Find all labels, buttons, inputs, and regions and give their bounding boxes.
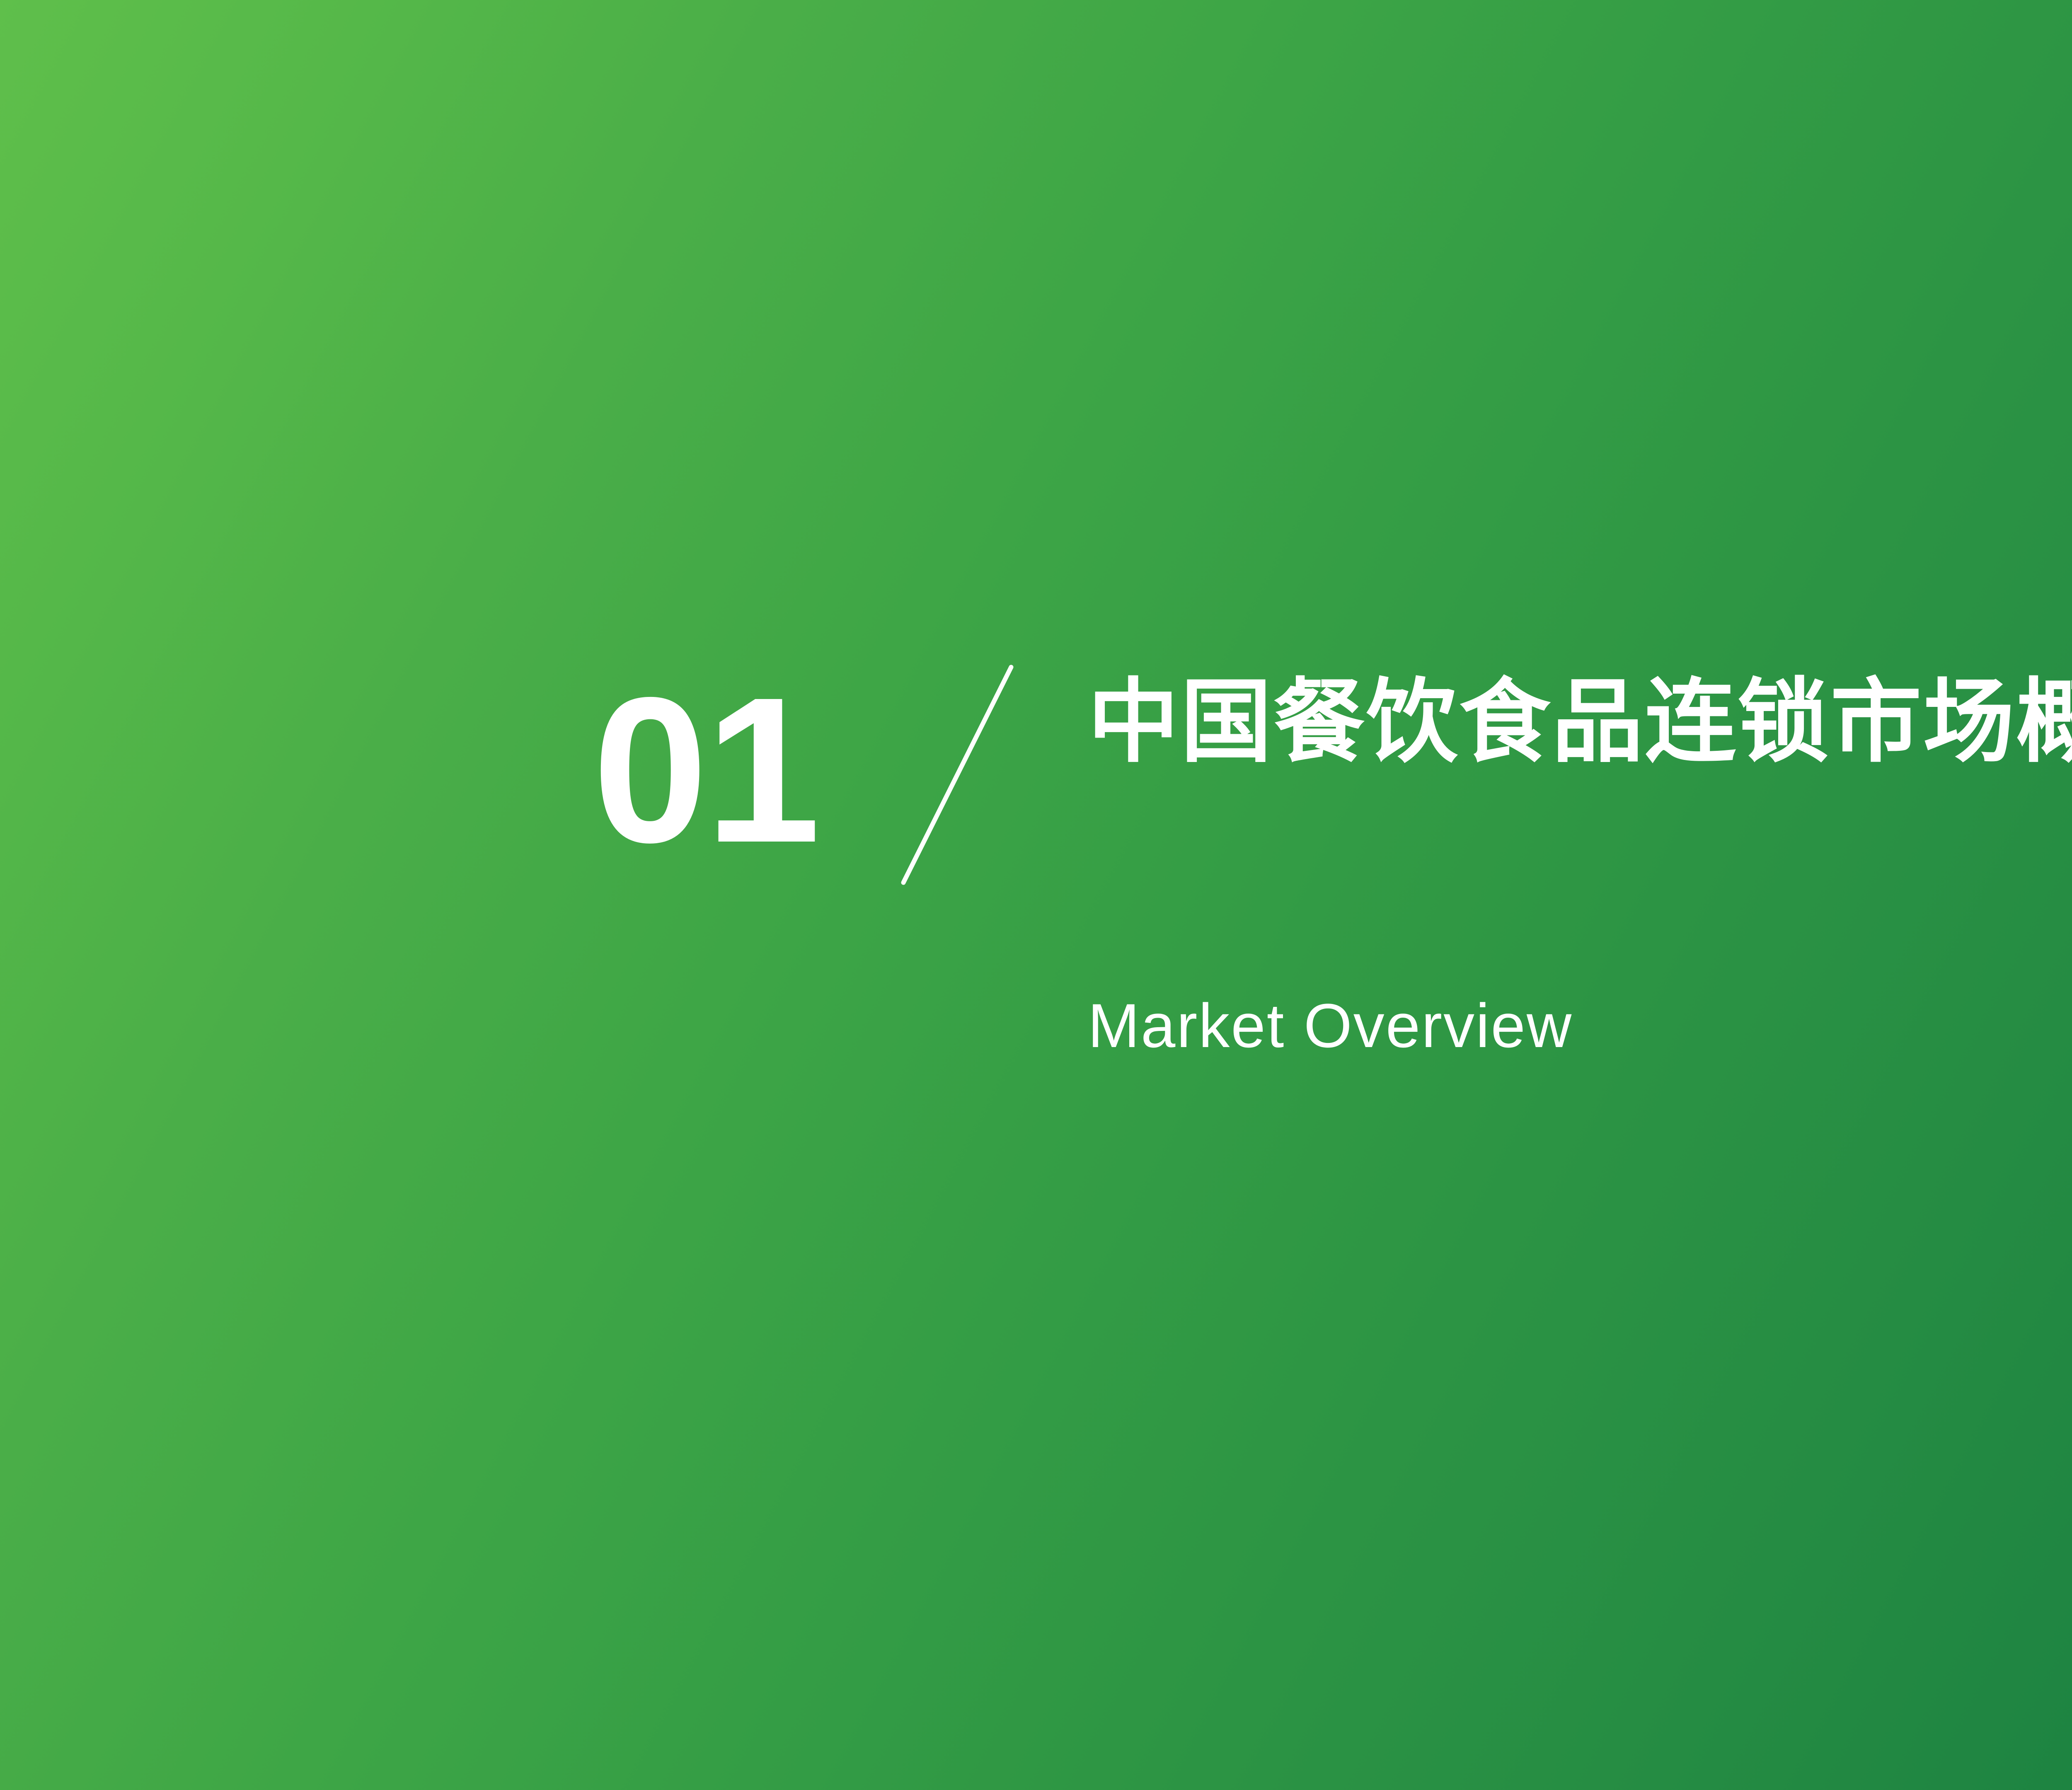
section-number: 01 xyxy=(593,666,818,873)
diagonal-slash-icon xyxy=(887,659,1036,891)
slide-canvas: 01 中国餐饮食品连锁市场概览 Market Overview Research… xyxy=(0,0,2072,1790)
section-divider-content: 01 中国餐饮食品连锁市场概览 Market Overview xyxy=(593,646,2072,1185)
section-title: 中国餐饮食品连锁市场概览 xyxy=(1088,668,2072,776)
section-subtitle: Market Overview xyxy=(1088,990,1573,1061)
